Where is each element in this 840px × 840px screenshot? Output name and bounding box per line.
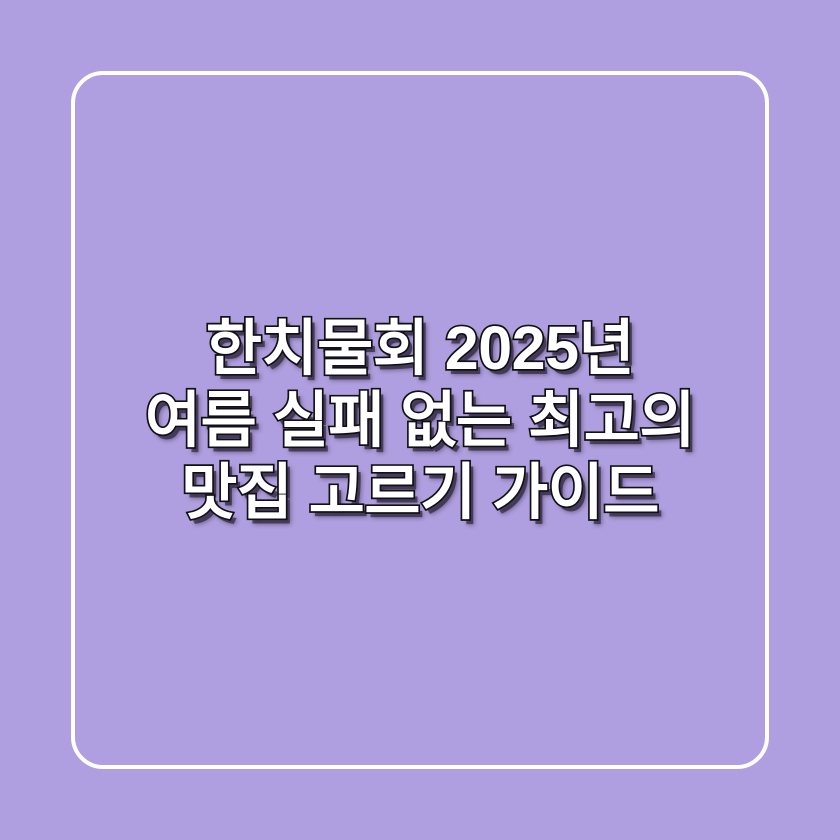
thumbnail-card: 한치물회 2025년 여름 실패 없는 최고의 맛집 고르기 가이드 [0,0,840,840]
headline-line-1: 한치물회 2025년 [96,312,744,384]
headline-line-3: 맛집 고르기 가이드 [96,456,744,528]
headline-line-2: 여름 실패 없는 최고의 [96,384,744,456]
headline-block: 한치물회 2025년 여름 실패 없는 최고의 맛집 고르기 가이드 [0,0,840,840]
